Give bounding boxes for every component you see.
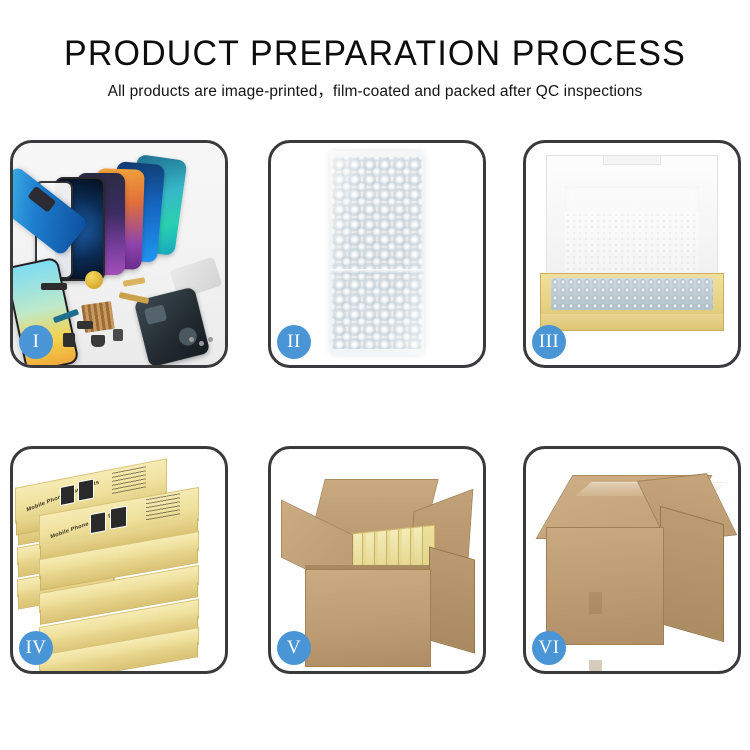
flex-cable-3 <box>123 277 146 287</box>
carton-handhole-bottom <box>589 660 602 671</box>
step-panel-1[interactable]: I <box>10 140 228 368</box>
box-tray-lip <box>541 314 723 330</box>
box-artwork-chip-f1 <box>90 511 106 534</box>
step-panel-3[interactable]: III <box>523 140 741 368</box>
speaker-part <box>41 283 67 290</box>
bubble-wrapped-contents <box>551 278 713 310</box>
screws-group <box>189 337 213 349</box>
step-panel-6[interactable]: VI <box>523 446 741 674</box>
page-subtitle: All products are image-printed，film-coat… <box>0 81 750 103</box>
step-badge-5: V <box>277 631 311 665</box>
wrap-sheen <box>330 151 424 355</box>
box-artwork-chip-b2 <box>78 478 94 501</box>
box-lid-tab <box>603 156 661 165</box>
step-badge-6: VI <box>532 631 566 665</box>
vibration-motor-part <box>85 271 103 289</box>
box-spec-lines-back <box>112 466 146 495</box>
page-header: PRODUCT PREPARATION PROCESS All products… <box>0 0 750 103</box>
box-artwork-chip-f2 <box>110 506 127 530</box>
carton-side-face <box>429 546 475 653</box>
step-badge-2: II <box>277 325 311 359</box>
step-badge-4: IV <box>19 631 53 665</box>
box-artwork-chip-b1 <box>60 484 75 506</box>
step-badge-3: III <box>532 325 566 359</box>
flex-cable-2 <box>119 292 150 304</box>
inner-box-open <box>540 155 724 331</box>
bubble-wrap-package <box>330 151 424 355</box>
step-panel-4[interactable]: Mobile Phone Spare Parts Mobile Phone Sp… <box>10 446 228 674</box>
small-part-1 <box>63 333 75 347</box>
small-part-2 <box>91 335 105 347</box>
step-badge-1: I <box>19 325 53 359</box>
carton-sealed-front-face <box>546 527 664 645</box>
step-panel-2[interactable]: II <box>268 140 486 368</box>
carton-sealed-side-face <box>660 506 724 642</box>
box-spec-lines-front <box>146 493 180 521</box>
box-lid <box>546 155 718 290</box>
process-step-grid: I II <box>0 136 750 696</box>
page-title: PRODUCT PREPARATION PROCESS <box>11 34 739 74</box>
step-panel-5[interactable]: V <box>268 446 486 674</box>
outer-carton-sealed <box>538 475 726 653</box>
box-tray <box>540 273 724 331</box>
small-part-3 <box>113 329 123 341</box>
outer-carton-open <box>287 473 467 659</box>
carton-handhole-top <box>589 592 602 614</box>
small-part-4 <box>77 321 93 329</box>
carton-front-face <box>305 569 431 667</box>
